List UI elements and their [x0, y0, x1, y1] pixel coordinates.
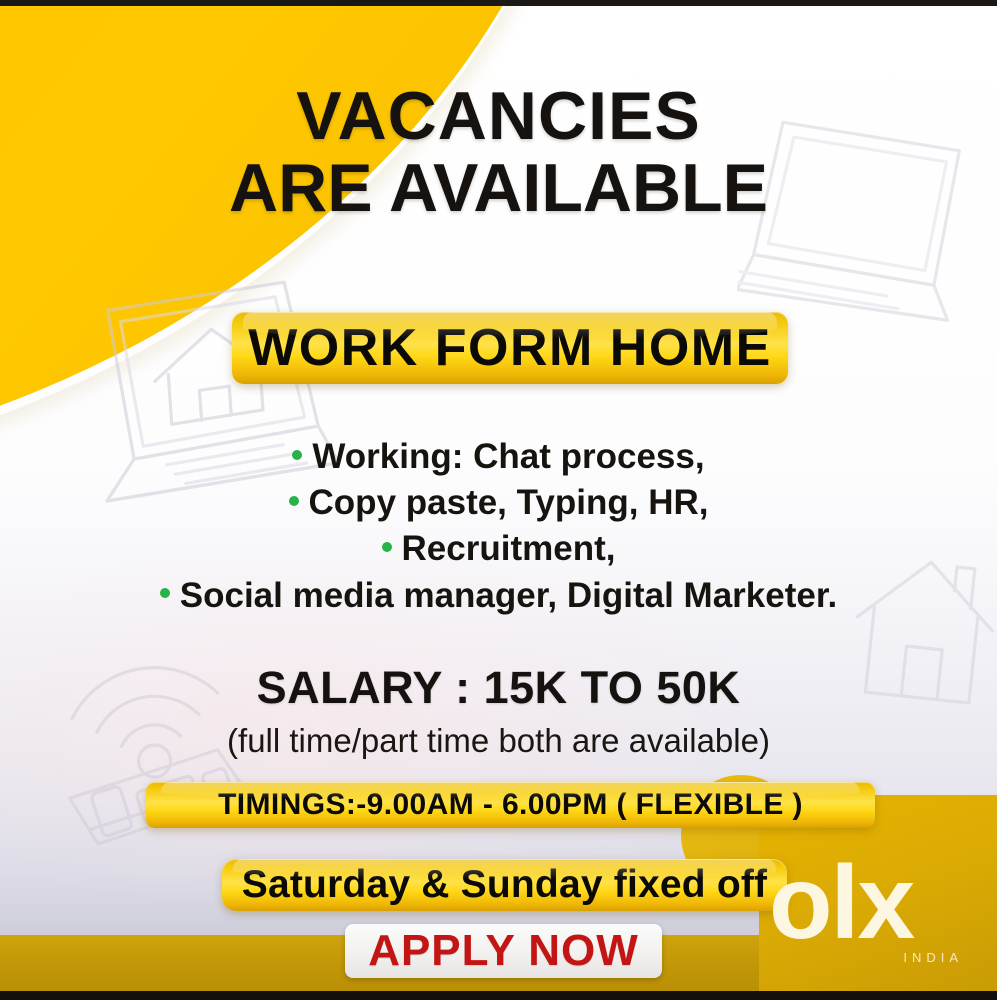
- olx-logo-region: INDIA: [903, 950, 963, 965]
- list-item-label: Copy paste, Typing, HR,: [309, 483, 709, 522]
- weekend-off-banner: Saturday & Sunday fixed off: [222, 859, 787, 911]
- bullet-dot-icon: [289, 496, 299, 506]
- bullet-dot-icon: [160, 588, 170, 598]
- list-item: Copy paste, Typing, HR,: [0, 480, 997, 526]
- timings-banner: TIMINGS:-9.00AM - 6.00PM ( FLEXIBLE ): [146, 782, 875, 828]
- headline-line-1: VACANCIES: [0, 80, 997, 152]
- salary-headline: SALARY : 15K TO 50K: [0, 662, 997, 714]
- work-from-home-banner-label: WORK FORM HOME: [248, 318, 772, 378]
- list-item-label: Working: Chat process,: [312, 437, 704, 476]
- apply-now-button-label: APPLY NOW: [368, 926, 639, 976]
- poster-headline: VACANCIES ARE AVAILABLE: [0, 80, 997, 224]
- job-roles-list: Working: Chat process, Copy paste, Typin…: [0, 434, 997, 619]
- list-item: Recruitment,: [0, 526, 997, 572]
- list-item-label: Social media manager, Digital Marketer.: [180, 576, 838, 615]
- olx-logo: olx INDIA: [769, 851, 979, 963]
- list-item: Social media manager, Digital Marketer.: [0, 573, 997, 619]
- job-advertisement-poster: VACANCIES ARE AVAILABLE WORK FORM HOME W…: [0, 0, 997, 1000]
- timings-banner-label: TIMINGS:-9.00AM - 6.00PM ( FLEXIBLE ): [218, 788, 803, 822]
- salary-note: (full time/part time both are available): [0, 722, 997, 760]
- apply-now-button[interactable]: APPLY NOW: [345, 924, 662, 978]
- list-item: Working: Chat process,: [0, 434, 997, 480]
- olx-logo-wordmark: olx: [769, 851, 913, 955]
- headline-line-2: ARE AVAILABLE: [0, 152, 997, 224]
- bullet-dot-icon: [292, 450, 302, 460]
- list-item-label: Recruitment,: [402, 529, 616, 568]
- bullet-dot-icon: [382, 542, 392, 552]
- work-from-home-banner: WORK FORM HOME: [232, 312, 788, 384]
- weekend-off-banner-label: Saturday & Sunday fixed off: [242, 863, 767, 907]
